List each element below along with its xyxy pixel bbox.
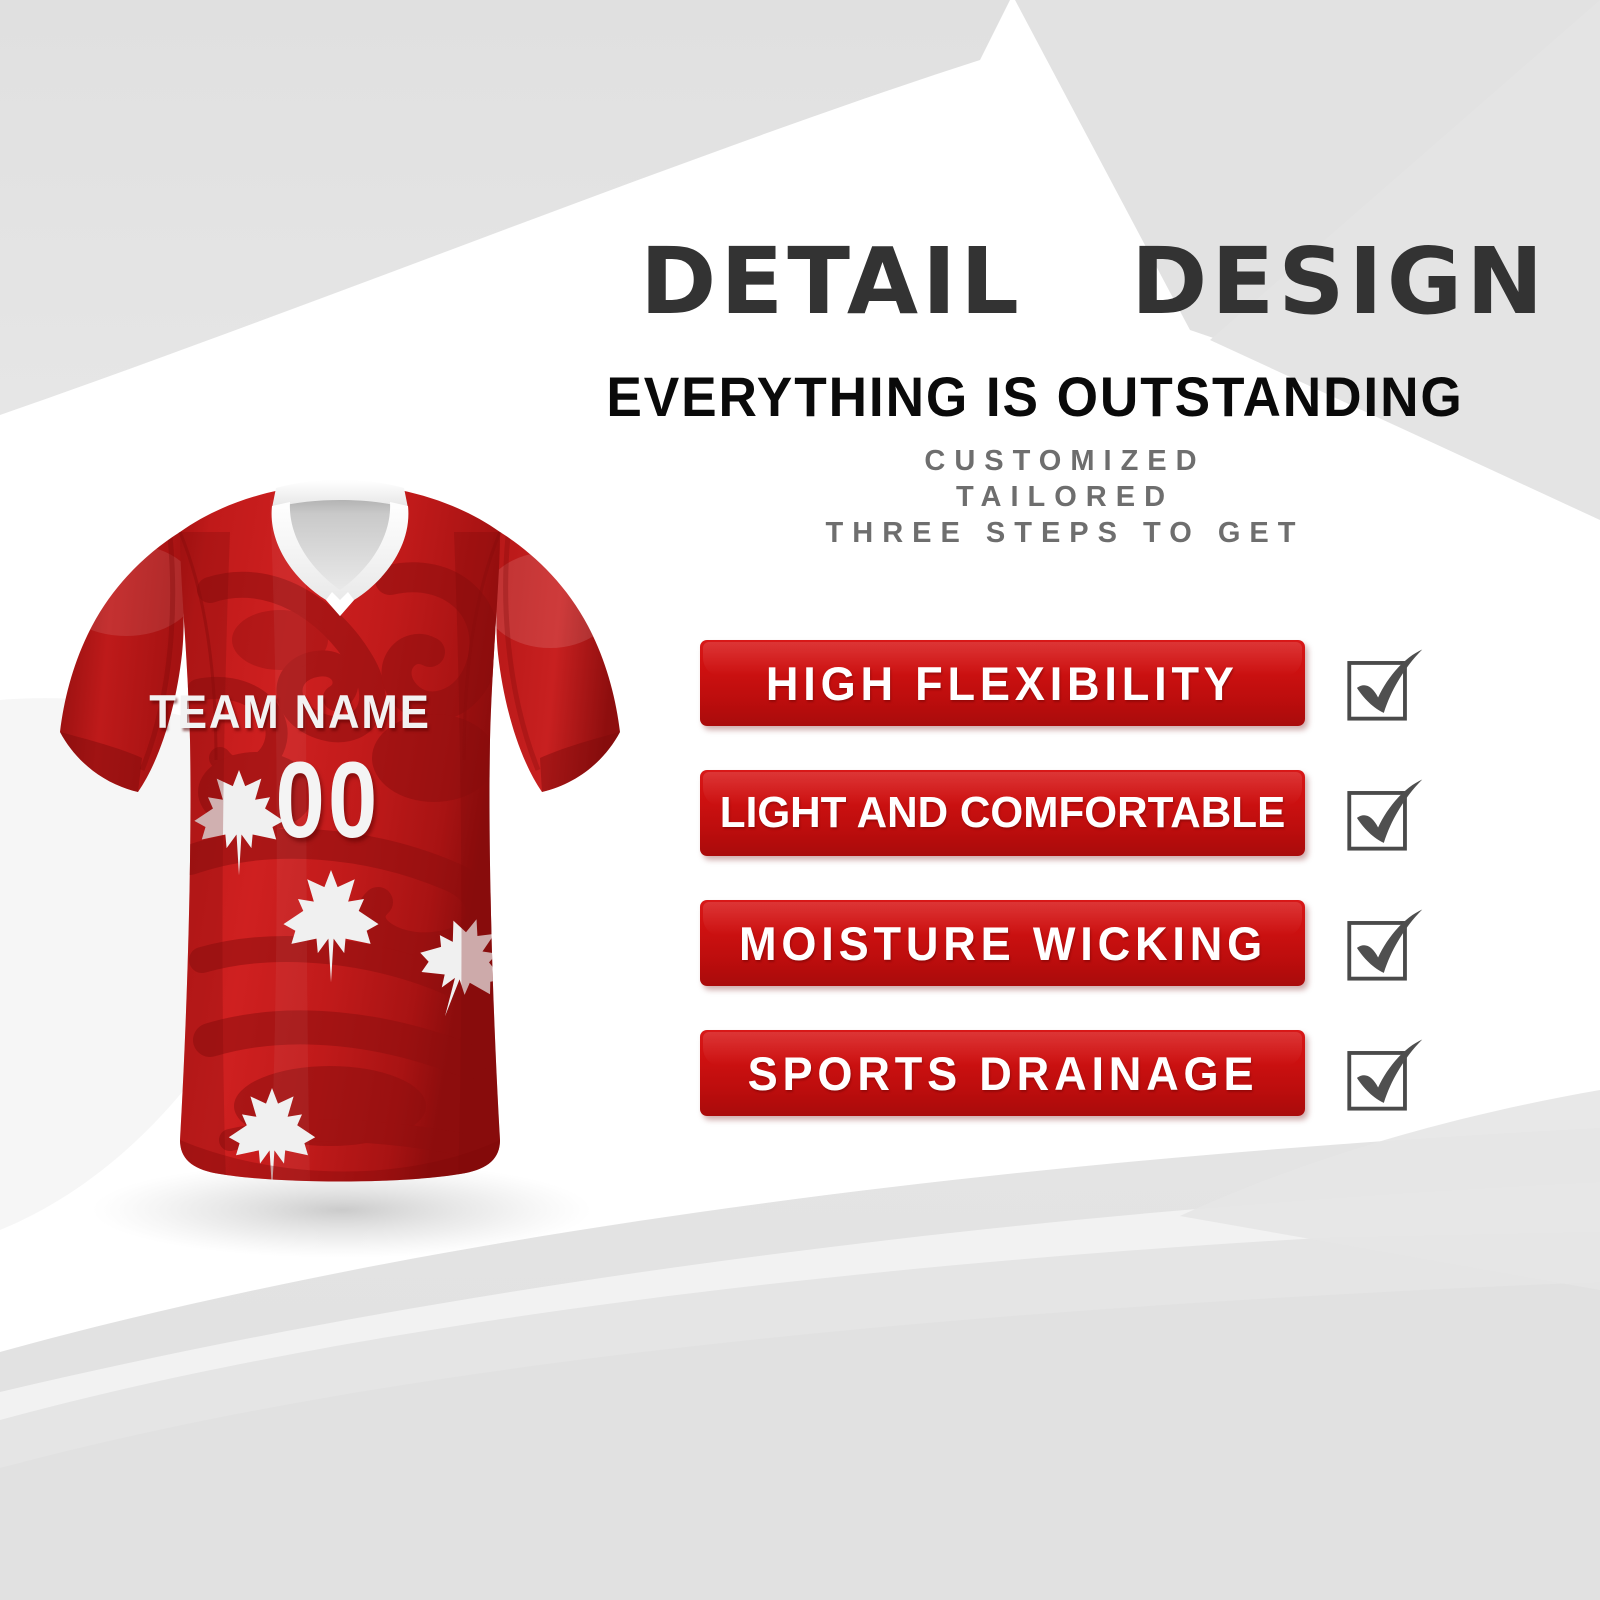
page-title: DETAIL DESIGN	[640, 236, 1470, 328]
feature-label: SPORTS DRAINAGE	[747, 1046, 1258, 1101]
tagline-item: CUSTOMIZED	[620, 443, 1510, 479]
feature-label: MOISTURE WICKING	[738, 916, 1266, 971]
tagline-item: TAILORED	[620, 479, 1510, 515]
feature-label: HIGH FLEXIBILITY	[766, 656, 1239, 711]
feature-row: MOISTURE WICKING	[700, 900, 1480, 1030]
checkbox-checked-icon[interactable]	[1332, 638, 1428, 734]
bg-shape-top-left	[0, 0, 1010, 415]
jersey-team-name-text: TEAM NAME	[48, 684, 532, 739]
feature-row: SPORTS DRAINAGE	[700, 1030, 1480, 1160]
jersey-illustration	[30, 440, 650, 1280]
feature-row: LIGHT AND COMFORTABLE	[700, 770, 1480, 900]
feature-bar-high-flexibility[interactable]: HIGH FLEXIBILITY	[700, 640, 1305, 726]
product-image-jersey: TEAM NAME 00	[30, 440, 650, 1280]
checkbox-checked-icon[interactable]	[1332, 768, 1428, 864]
feature-bar-sports-drainage[interactable]: SPORTS DRAINAGE	[700, 1030, 1305, 1116]
jersey-sleeve-left	[56, 532, 196, 792]
checkbox-checked-icon[interactable]	[1332, 898, 1428, 994]
checkbox-checked-icon[interactable]	[1332, 1028, 1428, 1124]
tagline-item: THREE STEPS TO GET	[620, 515, 1510, 551]
feature-row: HIGH FLEXIBILITY	[700, 640, 1480, 770]
jersey-number-text: 00	[180, 746, 475, 854]
page-title-word-1: DETAIL	[640, 236, 1023, 328]
jersey-sleeve-right	[484, 532, 620, 792]
page-title-word-2: DESIGN	[1131, 236, 1547, 328]
feature-label: LIGHT AND COMFORTABLE	[720, 788, 1285, 838]
tagline-list: CUSTOMIZED TAILORED THREE STEPS TO GET	[620, 443, 1510, 551]
feature-bar-light-and-comfortable[interactable]: LIGHT AND COMFORTABLE	[700, 770, 1305, 856]
feature-list: HIGH FLEXIBILITY LIGHT AND COMFORTABLE	[700, 640, 1480, 1160]
product-detail-banner: TEAM NAME 00 DETAIL DESIGN EVERYTHING IS…	[0, 0, 1600, 1600]
page-subtitle: EVERYTHING IS OUTSTANDING	[584, 364, 1487, 429]
feature-bar-moisture-wicking[interactable]: MOISTURE WICKING	[700, 900, 1305, 986]
